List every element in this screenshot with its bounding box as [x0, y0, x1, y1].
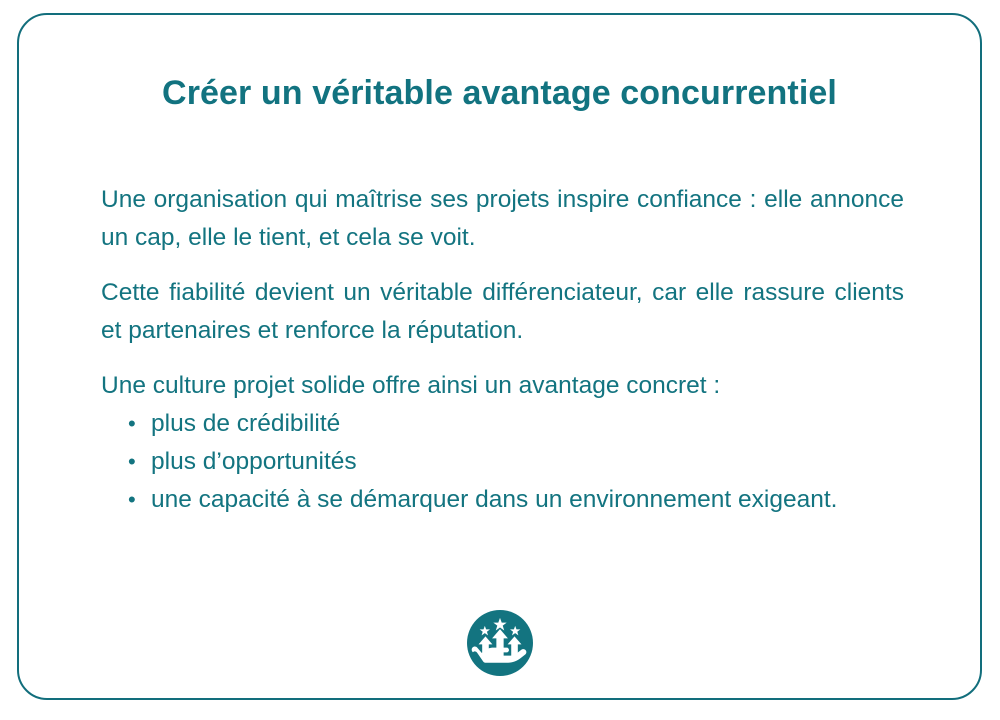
paragraph-3: Une culture projet solide offre ainsi un…: [101, 367, 904, 405]
paragraph-2: Cette fiabilité devient un véritable dif…: [101, 274, 904, 350]
list-item: une capacité à se démarquer dans un envi…: [101, 481, 904, 519]
page-title: Créer un véritable avantage concurrentie…: [19, 73, 980, 114]
advantages-list: plus de crédibilité plus d’opportunités …: [101, 405, 904, 519]
logo-container: [19, 610, 980, 676]
list-item: plus d’opportunités: [101, 443, 904, 481]
growth-hand-arrows-logo: [467, 610, 533, 676]
slide-body: Une organisation qui maîtrise ses projet…: [101, 181, 904, 519]
paragraph-1: Une organisation qui maîtrise ses projet…: [101, 181, 904, 257]
list-item: plus de crédibilité: [101, 405, 904, 443]
slide-card: Créer un véritable avantage concurrentie…: [17, 13, 982, 700]
